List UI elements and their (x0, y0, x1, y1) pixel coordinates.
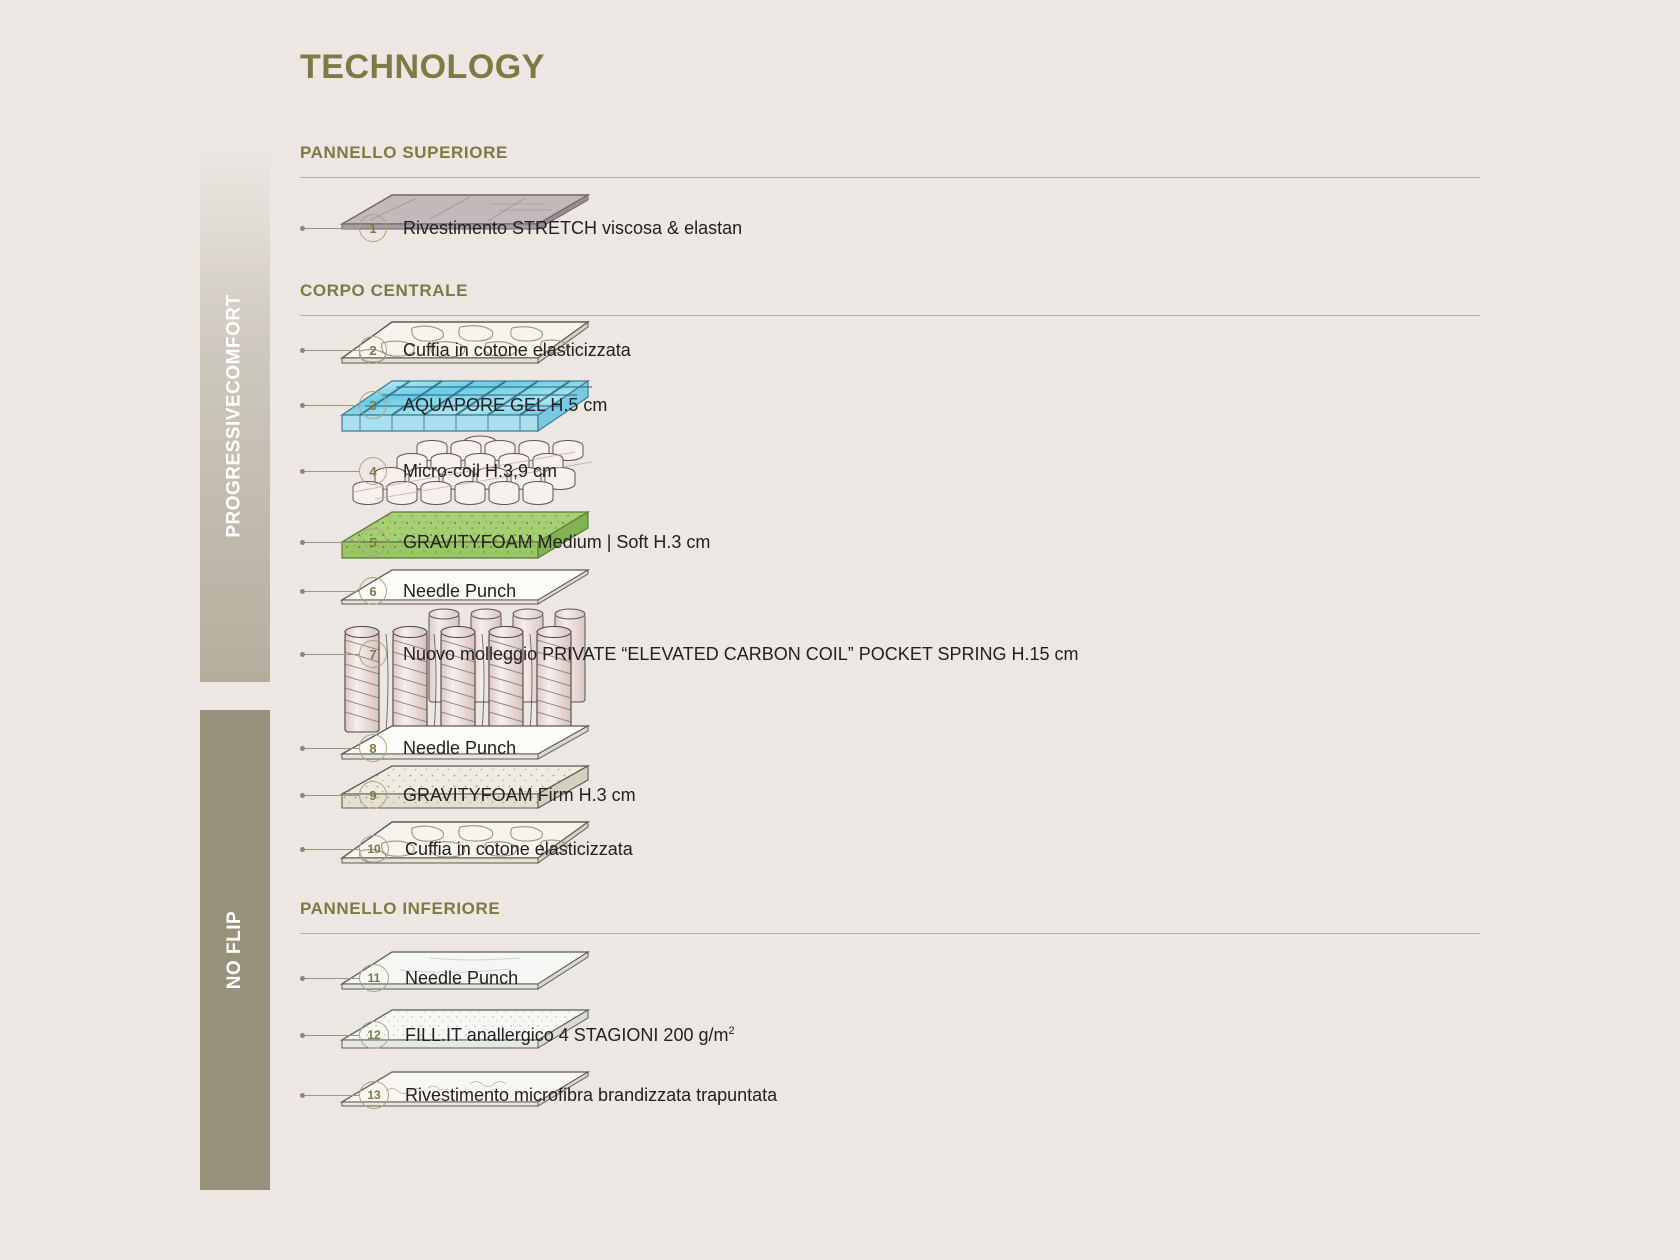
section-rule-corpo-centrale (300, 315, 1480, 316)
section-rule-pannello-superiore (300, 177, 1480, 178)
callout-number-8: 8 (359, 734, 387, 762)
callout-2[interactable]: 2 Cuffia in cotone elasticizzata (300, 337, 631, 363)
callout-label-6: Needle Punch (403, 581, 516, 602)
callout-number-10: 10 (359, 835, 389, 863)
side-tab-progressive-comfort-label: PROGRESSIVECOMFORT (224, 294, 246, 537)
callout-leader-8 (305, 748, 359, 749)
callout-number-12: 12 (359, 1021, 389, 1049)
callout-label-5: GRAVITYFOAM Medium | Soft H.3 cm (403, 532, 710, 553)
callout-number-6: 6 (359, 577, 387, 605)
section-heading-pannello-superiore: PANNELLO SUPERIORE (300, 143, 508, 163)
section-rule-pannello-inferiore (300, 933, 1480, 934)
callout-label-13: Rivestimento microfibra brandizzata trap… (405, 1085, 777, 1106)
callout-leader-1 (305, 228, 359, 229)
callout-leader-12 (305, 1035, 359, 1036)
callout-leader-4 (305, 471, 359, 472)
section-heading-corpo-centrale: CORPO CENTRALE (300, 281, 468, 301)
callout-leader-6 (305, 591, 359, 592)
callout-leader-2 (305, 350, 359, 351)
callout-number-1: 1 (359, 214, 387, 242)
page-title: TECHNOLOGY (300, 48, 545, 87)
callout-number-4: 4 (359, 457, 387, 485)
callout-leader-3 (305, 405, 359, 406)
callout-label-4: Micro-coil H.3,9 cm (403, 461, 557, 482)
callout-7[interactable]: 7 Nuovo molleggio PRIVATE “ELEVATED CARB… (300, 641, 1079, 667)
callout-12[interactable]: 12 FILL.IT anallergico 4 STAGIONI 200 g/… (300, 1022, 735, 1048)
callout-leader-9 (305, 795, 359, 796)
callout-label-1: Rivestimento STRETCH viscosa & elastan (403, 218, 742, 239)
callout-label-12-sup: 2 (728, 1025, 734, 1037)
callout-label-11: Needle Punch (405, 968, 518, 989)
callout-leader-10 (305, 849, 359, 850)
callout-label-2: Cuffia in cotone elasticizzata (403, 340, 631, 361)
callout-number-5: 5 (359, 528, 387, 556)
callout-13[interactable]: 13 Rivestimento microfibra brandizzata t… (300, 1082, 777, 1108)
callout-number-9: 9 (359, 781, 387, 809)
callout-4[interactable]: 4 Micro-coil H.3,9 cm (300, 458, 557, 484)
callout-number-7: 7 (359, 640, 387, 668)
callout-number-3: 3 (359, 391, 387, 419)
callout-number-13: 13 (359, 1081, 389, 1109)
callout-leader-5 (305, 542, 359, 543)
callout-number-11: 11 (359, 964, 389, 992)
callout-3[interactable]: 3 AQUAPORE GEL H.5 cm (300, 392, 607, 418)
side-tabs: PROGRESSIVECOMFORT NO FLIP (200, 150, 270, 1190)
callout-label-9: GRAVITYFOAM Firm H.3 cm (403, 785, 636, 806)
side-tab-progressive-comfort: PROGRESSIVECOMFORT (200, 150, 270, 682)
side-tab-no-flip: NO FLIP (200, 710, 270, 1190)
section-heading-pannello-inferiore: PANNELLO INFERIORE (300, 899, 500, 919)
callout-label-8: Needle Punch (403, 738, 516, 759)
callout-8[interactable]: 8 Needle Punch (300, 735, 516, 761)
side-tab-no-flip-label: NO FLIP (224, 911, 246, 989)
callout-leader-7 (305, 654, 359, 655)
callout-label-10: Cuffia in cotone elasticizzata (405, 839, 633, 860)
callout-leader-13 (305, 1095, 359, 1096)
callout-label-12-text: FILL.IT anallergico 4 STAGIONI 200 g/m (405, 1025, 728, 1045)
callout-6[interactable]: 6 Needle Punch (300, 578, 516, 604)
callout-1[interactable]: 1 Rivestimento STRETCH viscosa & elastan (300, 215, 742, 241)
callout-number-2: 2 (359, 336, 387, 364)
callout-label-12: FILL.IT anallergico 4 STAGIONI 200 g/m2 (405, 1025, 735, 1046)
callout-11[interactable]: 11 Needle Punch (300, 965, 518, 991)
callout-label-3: AQUAPORE GEL H.5 cm (403, 395, 607, 416)
callout-leader-11 (305, 978, 359, 979)
callout-label-7: Nuovo molleggio PRIVATE “ELEVATED CARBON… (403, 644, 1079, 665)
callout-9[interactable]: 9 GRAVITYFOAM Firm H.3 cm (300, 782, 636, 808)
callout-10[interactable]: 10 Cuffia in cotone elasticizzata (300, 836, 633, 862)
callout-5[interactable]: 5 GRAVITYFOAM Medium | Soft H.3 cm (300, 529, 710, 555)
